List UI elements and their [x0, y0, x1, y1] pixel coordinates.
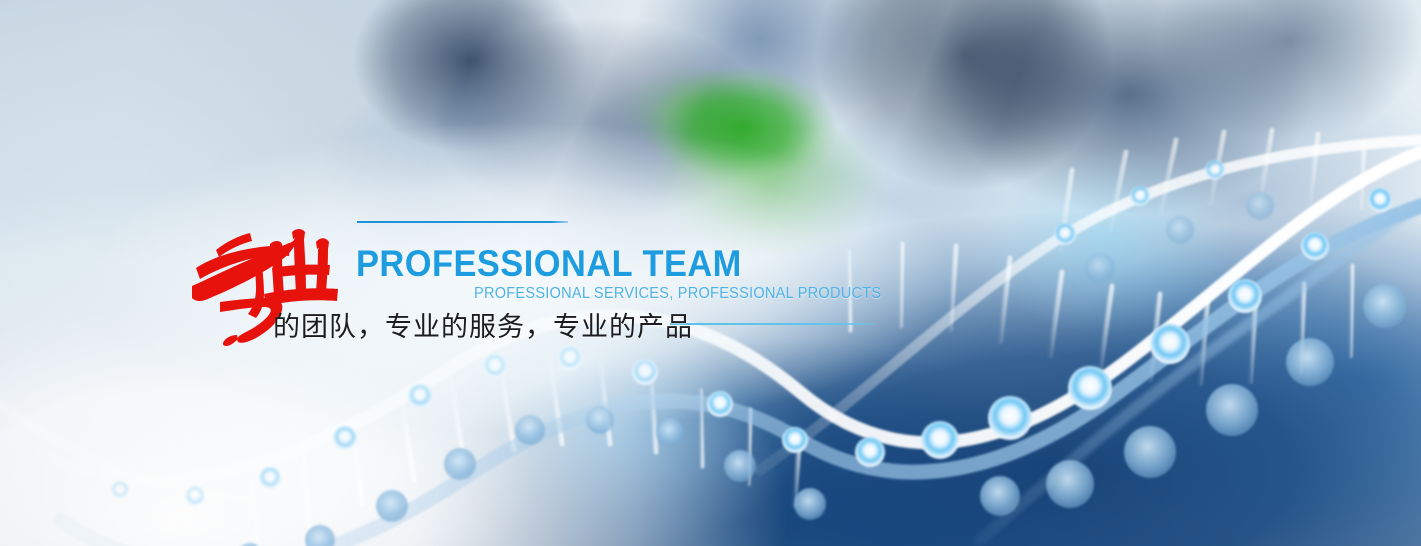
divider-line-top [357, 221, 568, 223]
page-title: PROFESSIONAL TEAM [356, 243, 742, 285]
chinese-tagline: 的团队，专业的服务，专业的产品 [273, 305, 693, 344]
professional-team-banner: PROFESSIONAL TEAM PROFESSIONAL SERVICES,… [0, 0, 1421, 546]
banner-content: PROFESSIONAL TEAM PROFESSIONAL SERVICES,… [0, 0, 1421, 546]
page-subtitle: PROFESSIONAL SERVICES, PROFESSIONAL PROD… [474, 285, 881, 303]
divider-line-bottom [670, 323, 875, 325]
